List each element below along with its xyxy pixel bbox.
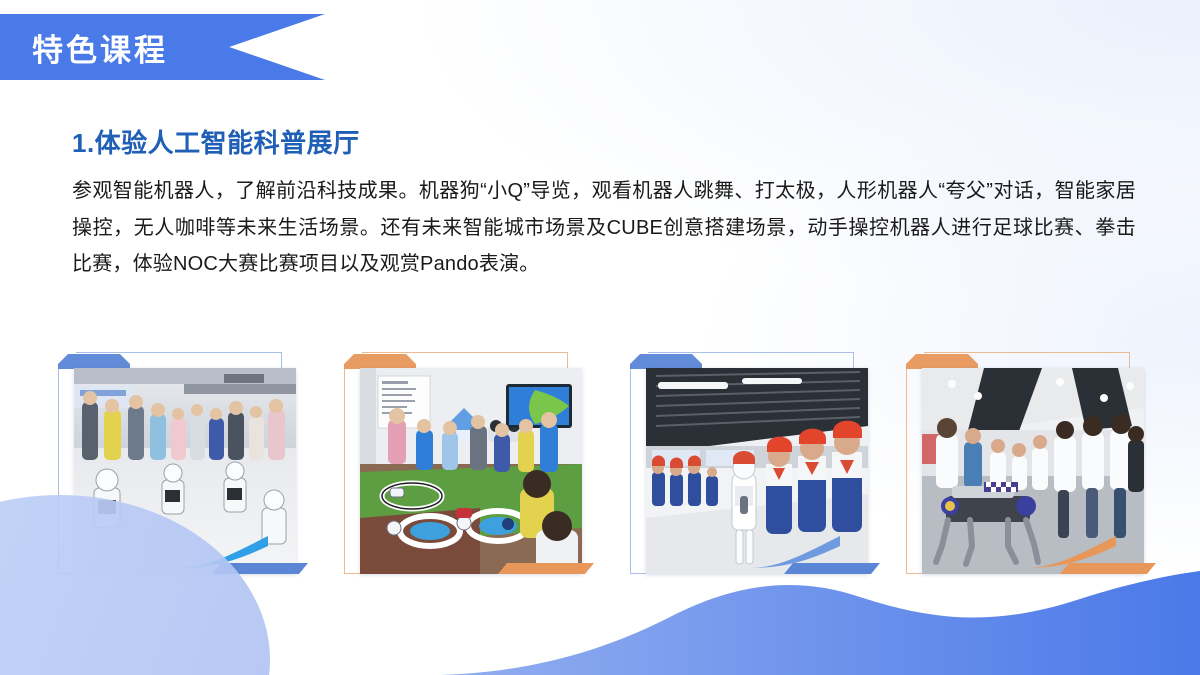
banner-title: 特色课程 [32, 25, 168, 70]
photo-card-3[interactable] [630, 352, 874, 580]
decor-wave-bottom-right [440, 555, 1200, 675]
slide-canvas: 特色课程 1.体验人工智能科普展厅 参观智能机器人，了解前沿科技成果。机器狗“小… [0, 0, 1200, 675]
content-block: 1.体验人工智能科普展厅 参观智能机器人，了解前沿科技成果。机器狗“小Q”导览，… [72, 128, 1136, 282]
page-title: 1.体验人工智能科普展厅 [72, 128, 1136, 159]
frame-notch-3 [630, 354, 702, 369]
photo-image-4 [922, 368, 1144, 574]
body-paragraph: 参观智能机器人，了解前沿科技成果。机器狗“小Q”导览，观看机器人跳舞、打太极，人… [72, 173, 1136, 282]
photo-card-4[interactable] [906, 352, 1150, 580]
frame-notch-4 [906, 354, 978, 369]
frame-notch-1 [58, 354, 130, 369]
frame-notch-2 [344, 354, 416, 369]
photo-card-2[interactable] [344, 352, 588, 580]
photo-image-3 [646, 368, 868, 574]
photo-image-2 [360, 368, 582, 574]
section-banner: 特色课程 [0, 14, 325, 80]
